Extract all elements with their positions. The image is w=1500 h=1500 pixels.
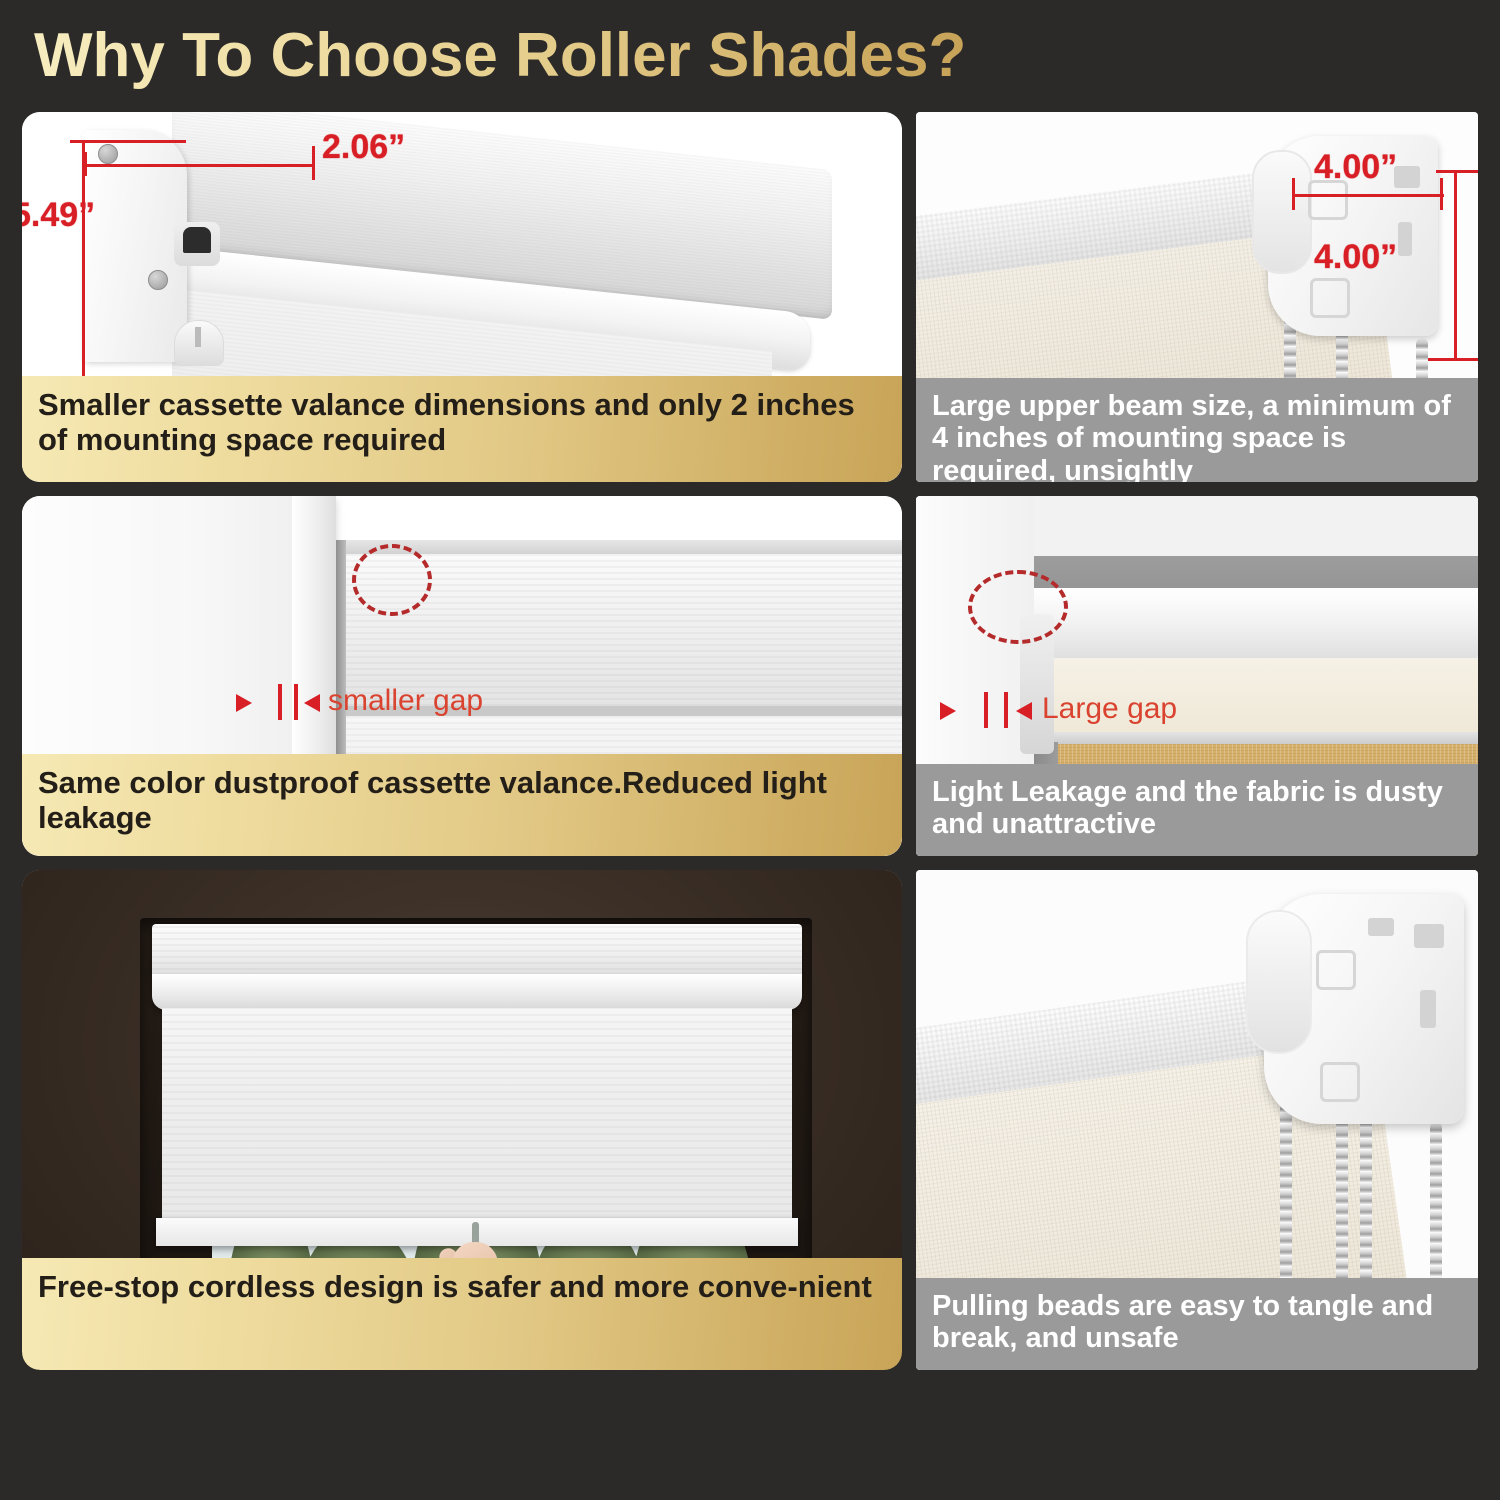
width-dimension-tick-right <box>312 146 315 180</box>
large-gap-arrow-right <box>1016 702 1032 720</box>
roller-tube-front <box>1026 588 1478 664</box>
caption-dustproof-cassette: Same color dustproof cassette valance.Re… <box>22 754 902 856</box>
caption-pulling-beads: Pulling beads are easy to tangle and bre… <box>916 1278 1478 1370</box>
width-dimension-line <box>84 164 314 167</box>
width-dimension-label: 2.06” <box>322 128 405 167</box>
cassette-lip-room <box>152 974 802 1010</box>
panel-column-left-3: Free-stop cordless design is safer and m… <box>22 870 902 1370</box>
gap-label-large: Large gap <box>1042 692 1177 726</box>
beam-width-line <box>1292 194 1444 197</box>
width-dimension-tick-left <box>84 152 87 176</box>
bracket-slot-mid <box>1398 222 1412 256</box>
comparison-row-2: smaller gap Same color dustproof cassett… <box>0 496 1500 856</box>
large-gap-arrow-left <box>940 702 956 720</box>
comparison-row-1: 5.49” 2.06” Smaller cassette valance dim… <box>0 112 1500 482</box>
bracket-slot-top <box>1394 166 1420 188</box>
caption-free-stop-cordless: Free-stop cordless design is safer and m… <box>22 1258 902 1370</box>
panel-column-right-3: Pulling beads are easy to tangle and bre… <box>916 870 1478 1370</box>
panel-column-left-2: smaller gap Same color dustproof cassett… <box>22 496 902 856</box>
end-cap-screw-bottom <box>148 270 168 290</box>
panel-column-left-1: 5.49” 2.06” Smaller cassette valance dim… <box>22 112 902 482</box>
beam-height-label: 4.00” <box>1314 238 1397 277</box>
panel-free-stop-cordless: Free-stop cordless design is safer and m… <box>22 870 902 1370</box>
large-gap-bar-right <box>1004 692 1008 728</box>
end-cap-screw-top <box>98 144 118 164</box>
cassette-valance-room <box>152 924 802 976</box>
panel-cassette-valance-dimensions: 5.49” 2.06” Smaller cassette valance dim… <box>22 112 902 482</box>
panel-column-right-2: Large gap Light Leakage and the fabric i… <box>916 496 1478 856</box>
beam-height-tick-top <box>1436 170 1478 173</box>
panel-dustproof-cassette-smaller-gap: smaller gap Same color dustproof cassett… <box>22 496 902 856</box>
beam-width-tick-right <box>1440 178 1443 210</box>
end-cap-knob <box>174 320 224 366</box>
end-cap-opening <box>174 222 220 266</box>
gap-marker-bar-right <box>294 684 298 720</box>
bracket-mount-slot-mid <box>1420 990 1436 1028</box>
bracket-icon-top <box>1316 950 1356 990</box>
caption-light-leakage: Light Leakage and the fabric is dusty an… <box>916 764 1478 856</box>
gap-arrow-left <box>236 694 252 712</box>
beam-height-line <box>1454 170 1457 360</box>
panel-column-right-1: 4.00” 4.00” Large upper beam size, a min… <box>916 112 1478 482</box>
gap-label-smaller: smaller gap <box>328 684 483 718</box>
bracket-icon-bottom <box>1320 1062 1360 1102</box>
highlight-circle-smaller-gap <box>352 544 432 616</box>
comparison-grid: 5.49” 2.06” Smaller cassette valance dim… <box>0 112 1500 1384</box>
panel-light-leakage-large-gap: Large gap Light Leakage and the fabric i… <box>916 496 1478 856</box>
height-dimension-tick-top <box>70 140 186 143</box>
panel-pulling-beads-tangle: Pulling beads are easy to tangle and bre… <box>916 870 1478 1370</box>
gap-arrow-right <box>304 694 320 712</box>
height-dimension-label: 5.49” <box>22 196 162 235</box>
caption-large-upper-beam: Large upper beam size, a minimum of 4 in… <box>916 378 1478 482</box>
infographic-page: Why To Choose Roller Shades? <box>0 0 1500 1500</box>
bracket-mount-slot-top <box>1414 924 1444 948</box>
gap-marker-bar-left <box>278 684 282 720</box>
comparison-row-3: Free-stop cordless design is safer and m… <box>0 870 1500 1370</box>
shade-fabric-room <box>162 1008 792 1226</box>
bracket-icon-lower <box>1310 278 1350 318</box>
beam-width-tick-left <box>1292 178 1295 210</box>
roller-bracket-beads <box>1264 894 1464 1124</box>
beam-height-tick-bottom <box>1428 358 1478 361</box>
large-gap-bar-left <box>984 692 988 728</box>
caption-cassette-valance-dimensions: Smaller cassette valance dimensions and … <box>22 376 902 482</box>
bracket-mount-slot-left <box>1368 918 1394 936</box>
highlight-circle-large-gap <box>968 570 1068 644</box>
panel-large-upper-beam: 4.00” 4.00” Large upper beam size, a min… <box>916 112 1478 482</box>
page-title: Why To Choose Roller Shades? <box>34 20 966 91</box>
beam-width-label: 4.00” <box>1314 148 1397 187</box>
